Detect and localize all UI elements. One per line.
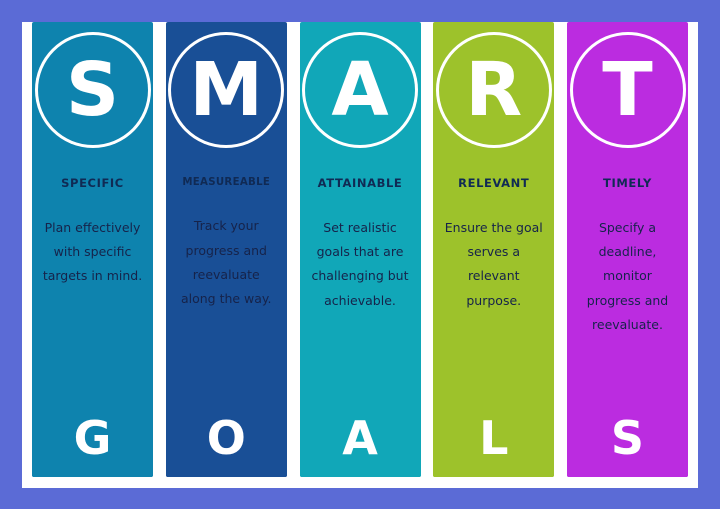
goals-letter-s: S [567, 415, 688, 461]
column-content: RELEVANT Ensure the goal serves a releva… [433, 22, 554, 477]
goals-letter-l: L [433, 415, 554, 461]
smart-column-specific: S SPECIFIC Plan effectively with specifi… [32, 22, 153, 477]
smart-column-timely: T TIMELY Specify a deadline, monitor pro… [567, 22, 688, 477]
column-heading-timely: TIMELY [603, 178, 652, 190]
smart-column-measureable: M MEASUREABLE Track your progress and re… [166, 22, 287, 477]
smart-column-relevant: R RELEVANT Ensure the goal serves a rele… [433, 22, 554, 477]
smart-column-attainable: A ATTAINABLE Set realistic goals that ar… [300, 22, 421, 477]
smart-columns: S SPECIFIC Plan effectively with specifi… [32, 22, 688, 477]
goals-letter-g: G [32, 415, 153, 461]
column-heading-measureable: MEASUREABLE [182, 178, 270, 188]
smart-goals-poster: S SPECIFIC Plan effectively with specifi… [0, 0, 720, 509]
column-body-timely: Specify a deadline, monitor progress and… [567, 216, 688, 338]
column-body-measureable: Track your progress and reevaluate along… [166, 214, 287, 312]
goals-letter-a: A [300, 415, 421, 461]
goals-letter-o: O [166, 415, 287, 461]
column-content: ATTAINABLE Set realistic goals that are … [300, 22, 421, 477]
column-body-attainable: Set realistic goals that are challenging… [300, 216, 421, 314]
column-heading-relevant: RELEVANT [458, 178, 529, 190]
column-body-specific: Plan effectively with specific targets i… [32, 216, 153, 289]
column-content: MEASUREABLE Track your progress and reev… [166, 22, 287, 477]
column-content: TIMELY Specify a deadline, monitor progr… [567, 22, 688, 477]
column-body-relevant: Ensure the goal serves a relevant purpos… [433, 216, 554, 314]
column-heading-attainable: ATTAINABLE [318, 178, 403, 190]
column-heading-specific: SPECIFIC [61, 178, 124, 190]
column-content: SPECIFIC Plan effectively with specific … [32, 22, 153, 477]
poster-canvas: S SPECIFIC Plan effectively with specifi… [22, 22, 698, 488]
